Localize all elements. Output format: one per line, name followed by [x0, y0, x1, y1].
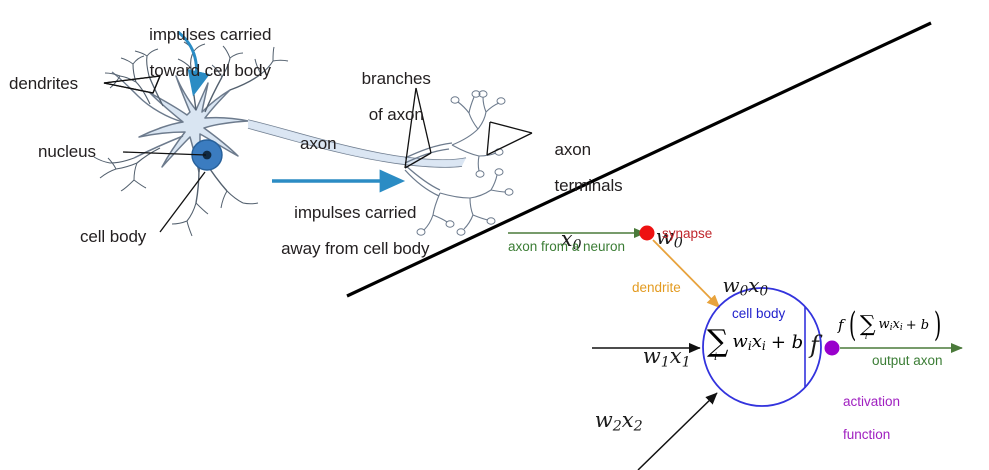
output-f-glyph: f: [838, 316, 844, 334]
impulses-toward-label: impulses carried toward cell body: [116, 8, 286, 98]
sigma-index: i: [714, 353, 717, 363]
axon-label: axon: [300, 135, 336, 153]
right-paren: ): [934, 305, 941, 345]
sigma-glyph: ∑: [707, 324, 728, 359]
axon-terminals-label: axon terminals: [536, 123, 623, 213]
dendrites-label: dendrites: [9, 75, 78, 93]
axon-from-neuron-caption: axon from a neuron: [508, 239, 625, 254]
cell-body-label: cell body: [80, 228, 146, 246]
impulses-away-label: impulses carried away from cell body: [253, 186, 439, 276]
figure-canvas: impulses carried toward cell body dendri…: [0, 0, 989, 470]
output-sigma-glyph: ∑: [860, 312, 876, 337]
cell-body-caption: cell body: [732, 306, 785, 321]
synapse-caption: synapse: [662, 226, 712, 241]
branches-of-axon-label: branches of axon: [339, 52, 435, 142]
nucleus-label: nucleus: [38, 143, 96, 161]
output-sigma-index: i: [865, 333, 868, 341]
output-plus-b: + b: [906, 318, 929, 333]
w2x2-label: w2x2: [568, 384, 643, 459]
output-formula: f ( ∑ i wixi + b ): [838, 305, 944, 345]
sum-terms: wixi: [732, 331, 765, 353]
input-w2x2-arrow: [638, 393, 717, 470]
dendrite-caption: dendrite: [632, 280, 681, 295]
output-axon-caption: output axon: [872, 353, 943, 368]
left-paren: (: [849, 305, 856, 345]
plus-b-term: + b: [771, 332, 803, 353]
activation-function-caption: activation function: [828, 378, 900, 460]
output-sum-terms: wixi: [879, 317, 903, 333]
activation-f-label: f: [810, 331, 819, 359]
summation-expression: ∑ i wixi + b: [707, 327, 803, 357]
